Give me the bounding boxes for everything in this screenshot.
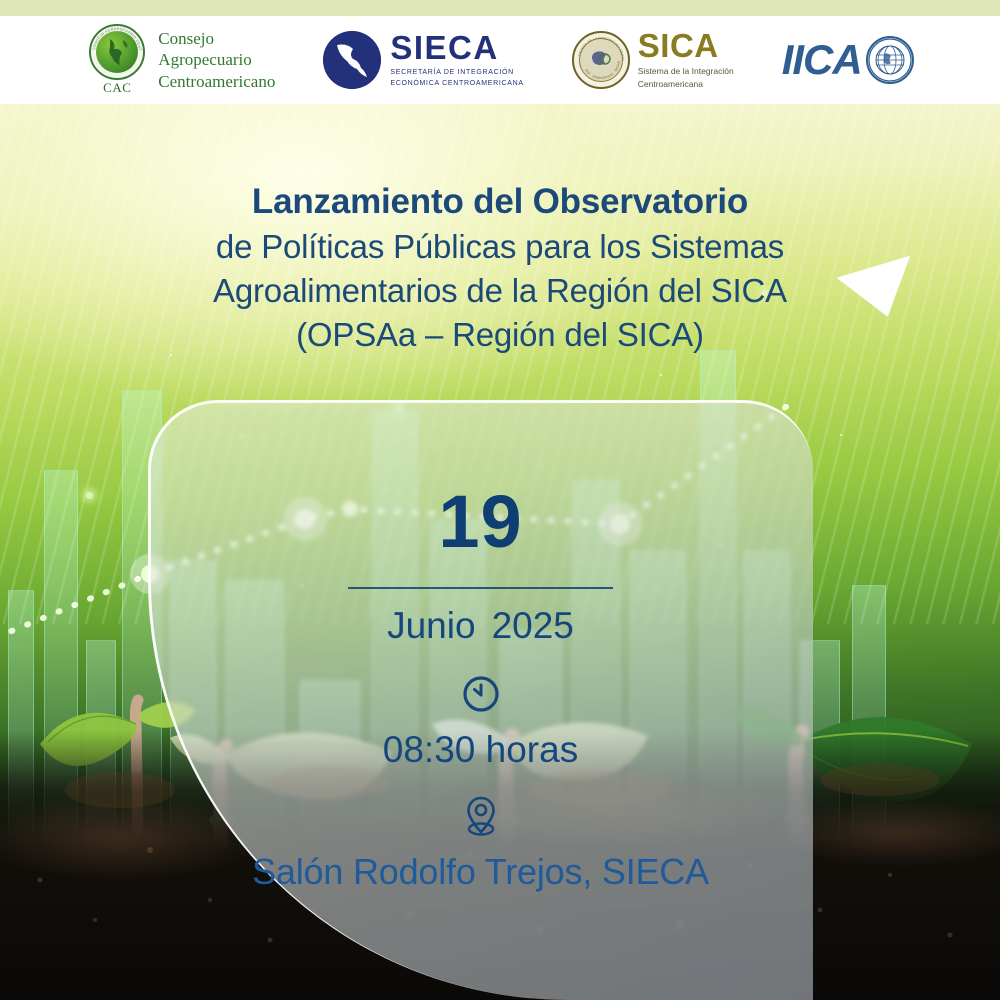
- sieca-name: SIECA: [390, 31, 523, 64]
- svg-text:CONSEJO AGROPECUARIO CENTROAME: CONSEJO AGROPECUARIO CENTROAMERICANO: [89, 24, 142, 51]
- iica-globe-icon: [866, 36, 914, 84]
- pin-icon-row: [148, 793, 813, 839]
- event-month: Junio: [387, 605, 475, 646]
- logo-header: CONSEJO AGROPECUARIO CENTROAMERICANO CAC…: [0, 16, 1000, 104]
- iica-name: IICA: [782, 36, 862, 84]
- sieca-sub-1: SECRETARÍA DE INTEGRACIÓN: [390, 68, 523, 78]
- cac-abbrev: CAC: [86, 80, 148, 96]
- title-line-3: Agroalimentarios de la Región del SICA: [0, 269, 1000, 313]
- top-accent-strip: [0, 0, 1000, 16]
- clock-icon: [460, 673, 502, 715]
- title-line-4: (OPSAa – Región del SICA): [0, 313, 1000, 357]
- sica-name: SICA: [638, 29, 734, 62]
- event-day: 19: [148, 485, 813, 559]
- event-details: 19 Junio2025 08:30 horas Salón Rodolfo T…: [148, 400, 813, 893]
- event-poster: Lanzamiento del Observatorio de Política…: [0, 0, 1000, 1000]
- logo-iica: IICA: [782, 36, 914, 84]
- location-pin-icon: [461, 793, 501, 839]
- divider: [348, 587, 613, 589]
- cac-wordmark: Consejo Agropecuario Centroamericano: [158, 28, 275, 92]
- event-venue: Salón Rodolfo Trejos, SIECA: [148, 851, 813, 893]
- sica-emblem-icon: SISTEMA DE LA INTEGRACION CENTROAMERICAN…: [572, 31, 630, 89]
- event-month-year: Junio2025: [148, 605, 813, 647]
- logo-cac: CONSEJO AGROPECUARIO CENTROAMERICANO CAC…: [86, 24, 275, 96]
- sica-wordmark: SICA Sistema de la Integración Centroame…: [638, 29, 734, 91]
- event-year: 2025: [492, 605, 574, 646]
- title-line-1: Lanzamiento del Observatorio: [0, 180, 1000, 225]
- sica-sub-2: Centroamericana: [638, 78, 734, 91]
- sieca-sub-2: ECONÓMICA CENTROAMERICANA: [390, 79, 523, 89]
- cac-line-3: Centroamericano: [158, 71, 275, 92]
- cac-line-2: Agropecuario: [158, 49, 275, 70]
- title-line-2: de Políticas Públicas para los Sistemas: [0, 225, 1000, 269]
- event-time: 08:30 horas: [148, 729, 813, 771]
- sieca-map-icon: [323, 31, 381, 89]
- sieca-wordmark: SIECA SECRETARÍA DE INTEGRACIÓN ECONÓMIC…: [390, 31, 523, 88]
- logo-sica: SISTEMA DE LA INTEGRACION CENTROAMERICAN…: [572, 29, 734, 91]
- sica-sub-1: Sistema de la Integración: [638, 65, 734, 78]
- clock-icon-row: [148, 673, 813, 715]
- logo-sieca: SIECA SECRETARÍA DE INTEGRACIÓN ECONÓMIC…: [323, 31, 523, 89]
- cac-emblem-icon: CONSEJO AGROPECUARIO CENTROAMERICANO CAC: [86, 24, 148, 96]
- cac-line-1: Consejo: [158, 28, 275, 49]
- page-title: Lanzamiento del Observatorio de Política…: [0, 180, 1000, 356]
